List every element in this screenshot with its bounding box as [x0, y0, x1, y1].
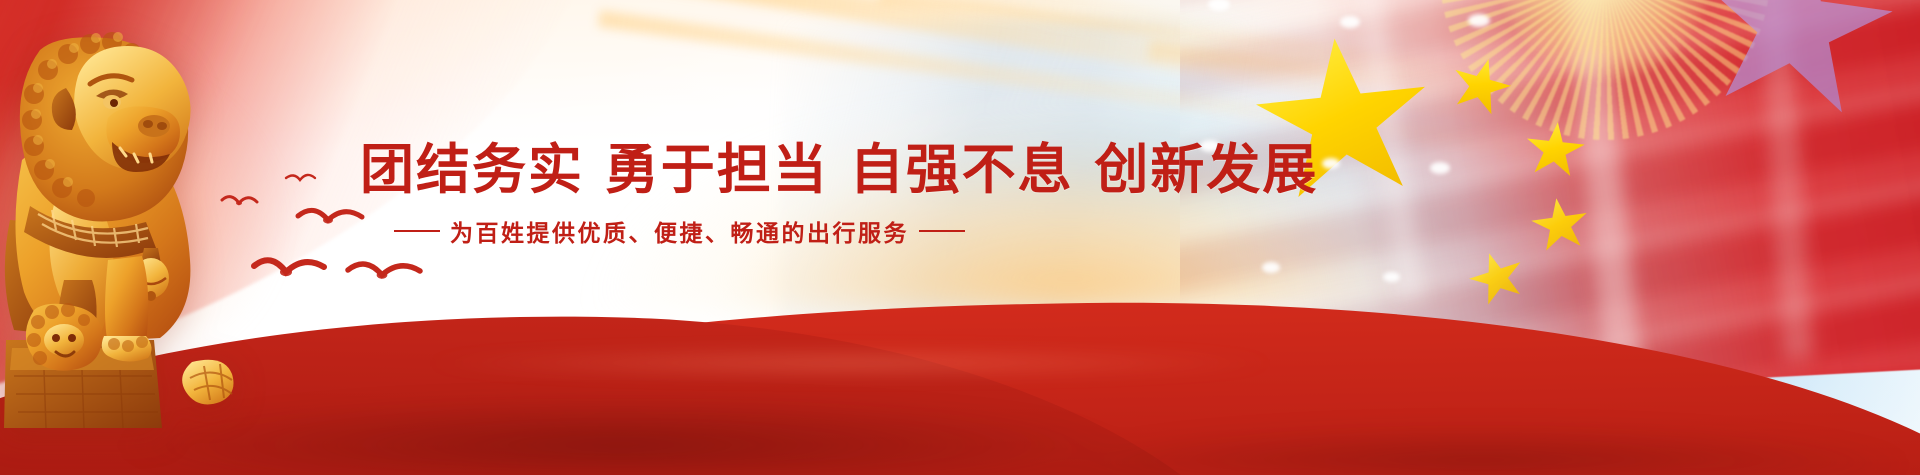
page-subtitle: 为百姓提供优质、便捷、畅通的出行服务	[450, 214, 909, 248]
subtitle-row: 为百姓提供优质、便捷、畅通的出行服务	[394, 214, 1060, 248]
page-title: 团结务实 勇于担当 自强不息 创新发展	[360, 140, 1060, 198]
flag-speck	[1262, 262, 1280, 273]
flag-speck	[1340, 16, 1360, 28]
red-wave-highlight	[300, 343, 1400, 383]
flag-speck	[1322, 158, 1340, 169]
rule-left	[394, 230, 440, 232]
slogan-text-block: 团结务实 勇于担当 自强不息 创新发展 为百姓提供优质、便捷、畅通的出行服务	[360, 140, 1060, 248]
flag-speck	[1430, 162, 1450, 174]
promotional-banner: 团结务实 勇于担当 自强不息 创新发展 为百姓提供优质、便捷、畅通的出行服务	[0, 0, 1920, 475]
flag-speck	[1468, 14, 1490, 27]
flag-speck	[1383, 272, 1400, 282]
rule-right	[919, 230, 965, 232]
